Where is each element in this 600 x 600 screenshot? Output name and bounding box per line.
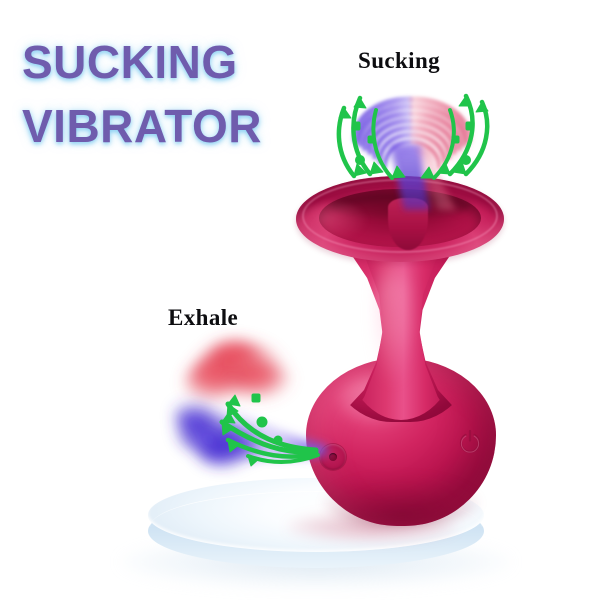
- suction-arrows-right: [421, 96, 488, 178]
- exhale-cloud-blue: [174, 394, 276, 466]
- page-title: SUCKING VIBRATOR: [22, 34, 322, 154]
- vortex-swirl-purple: [356, 100, 410, 167]
- product-waist-highlight: [376, 246, 410, 386]
- vortex-haze: [356, 110, 472, 162]
- exhale-cloud-red: [184, 340, 294, 410]
- headline-line-2: VIBRATOR: [22, 98, 322, 154]
- callout-label-exhale: Exhale: [168, 305, 238, 331]
- product-poster: SUCKING VIBRATOR Sucking Exhale: [0, 0, 600, 600]
- product-base-shade: [322, 476, 480, 526]
- suction-arrows-left: [339, 98, 405, 178]
- vortex-swirl-red: [412, 100, 468, 167]
- product-mouth-lip-highlight: [298, 202, 368, 242]
- air-vent-port-icon[interactable]: [320, 444, 346, 470]
- power-button-icon[interactable]: [458, 428, 482, 454]
- callout-label-sucking: Sucking: [358, 48, 440, 74]
- product-figure: [296, 176, 504, 531]
- headline-line-1: SUCKING: [22, 34, 322, 90]
